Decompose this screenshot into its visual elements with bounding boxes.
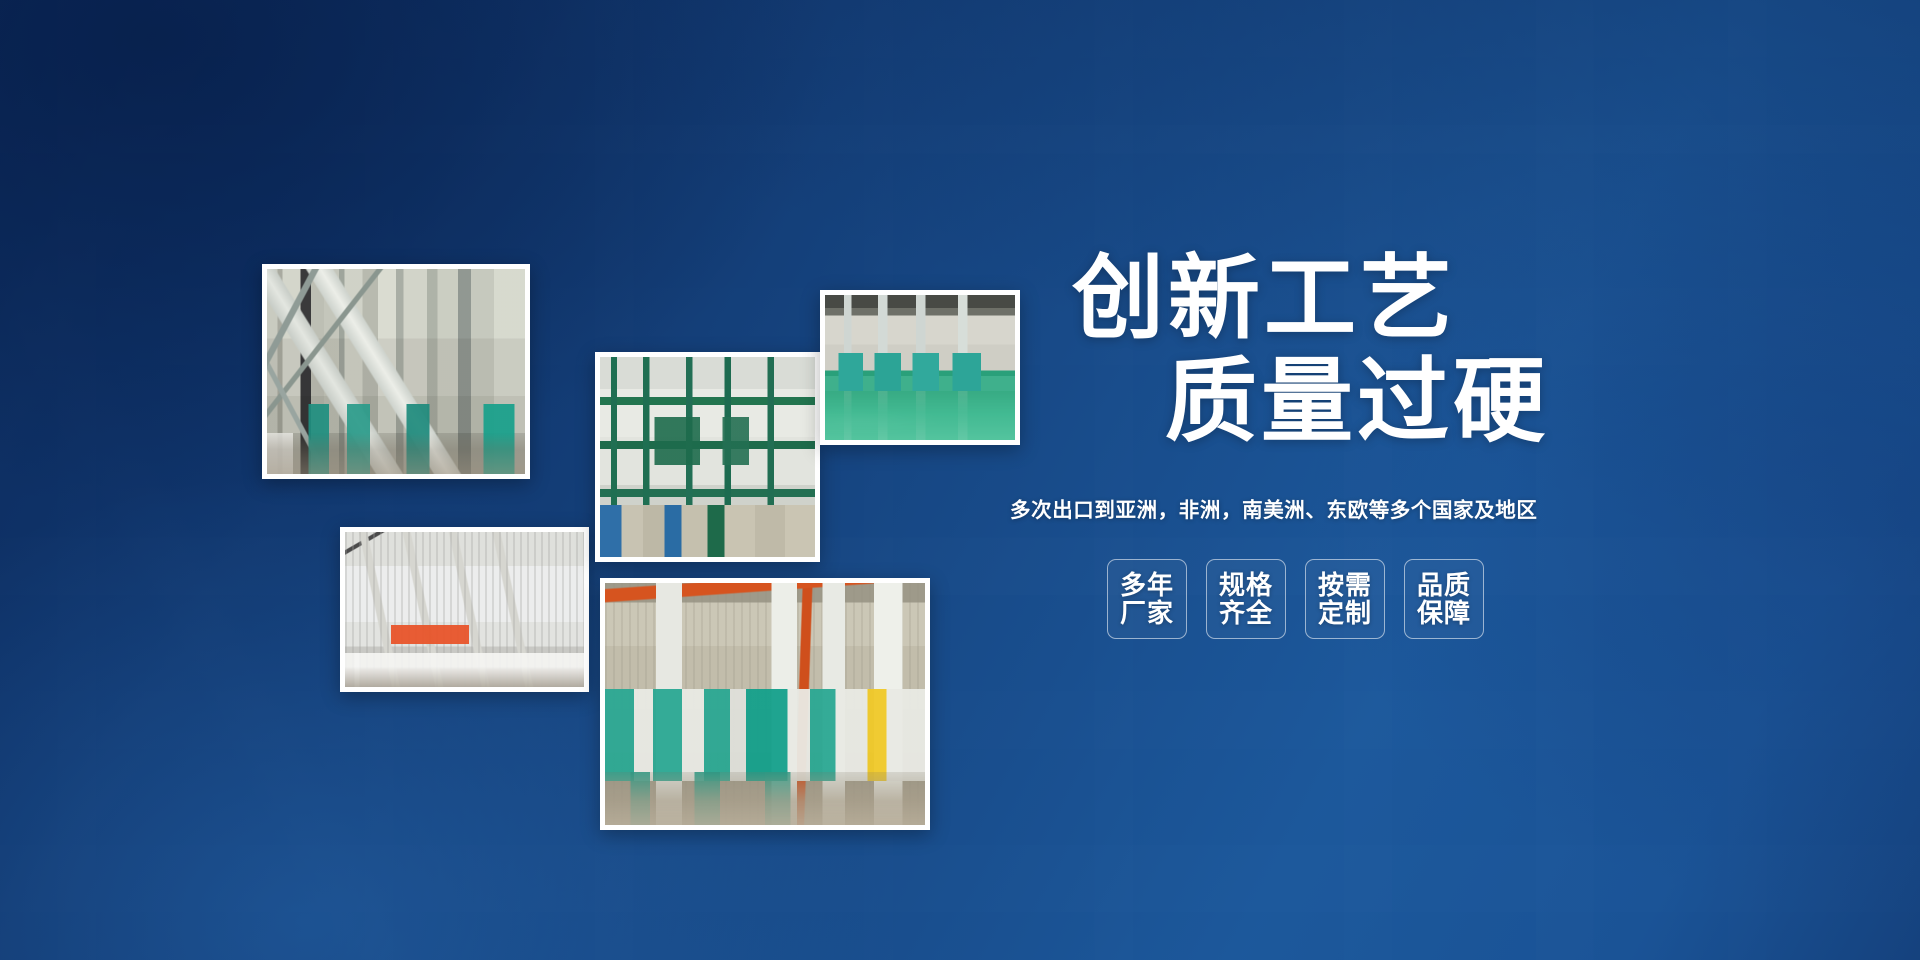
- feature-badge-custom-line-2: 定制: [1318, 599, 1372, 627]
- feature-badge-specs-line-2: 齐全: [1219, 599, 1273, 627]
- feature-badge-custom-line-1: 按需: [1318, 571, 1372, 599]
- teal-mill-orange-beams-photo: [600, 578, 930, 830]
- green-flour-mill-plant-photo-image: [600, 357, 815, 557]
- feature-badge-years-line-1: 多年: [1120, 571, 1174, 599]
- rice-milling-line-photo-image: [267, 269, 525, 474]
- teal-mill-orange-beams-photo-image: [605, 583, 925, 825]
- teal-mill-machines-floor-photo-image: [825, 295, 1015, 440]
- feature-badge-years: 多年 厂家: [1107, 559, 1187, 639]
- headline: 创新工艺 质量过硬: [1010, 250, 1630, 453]
- photo-collage: [0, 0, 1060, 960]
- green-flour-mill-plant-photo: [595, 352, 820, 562]
- banner-content: 创新工艺 质量过硬 多次出口到亚洲，非洲，南美洲、东欧等多个国家及地区 多年 厂…: [1010, 250, 1630, 639]
- conveyor-processing-line-photo-image: [345, 532, 584, 687]
- feature-badge-years-line-2: 厂家: [1120, 599, 1174, 627]
- rice-milling-line-photo: [262, 264, 530, 479]
- feature-badge-custom: 按需 定制: [1305, 559, 1385, 639]
- feature-badge-quality-line-2: 保障: [1417, 599, 1471, 627]
- feature-badge-list: 多年 厂家 规格 齐全 按需 定制 品质 保障: [1107, 559, 1630, 639]
- feature-badge-quality: 品质 保障: [1404, 559, 1484, 639]
- conveyor-processing-line-photo: [340, 527, 589, 692]
- headline-line-2: 质量过硬: [1165, 353, 1630, 452]
- promo-banner: 创新工艺 质量过硬 多次出口到亚洲，非洲，南美洲、东欧等多个国家及地区 多年 厂…: [0, 0, 1920, 960]
- feature-badge-quality-line-1: 品质: [1417, 571, 1471, 599]
- teal-mill-machines-floor-photo: [820, 290, 1020, 445]
- feature-badge-specs-line-1: 规格: [1219, 571, 1273, 599]
- subtitle: 多次出口到亚洲，非洲，南美洲、东欧等多个国家及地区: [1010, 493, 1630, 523]
- feature-badge-specs: 规格 齐全: [1206, 559, 1286, 639]
- headline-line-1: 创新工艺: [1072, 250, 1630, 349]
